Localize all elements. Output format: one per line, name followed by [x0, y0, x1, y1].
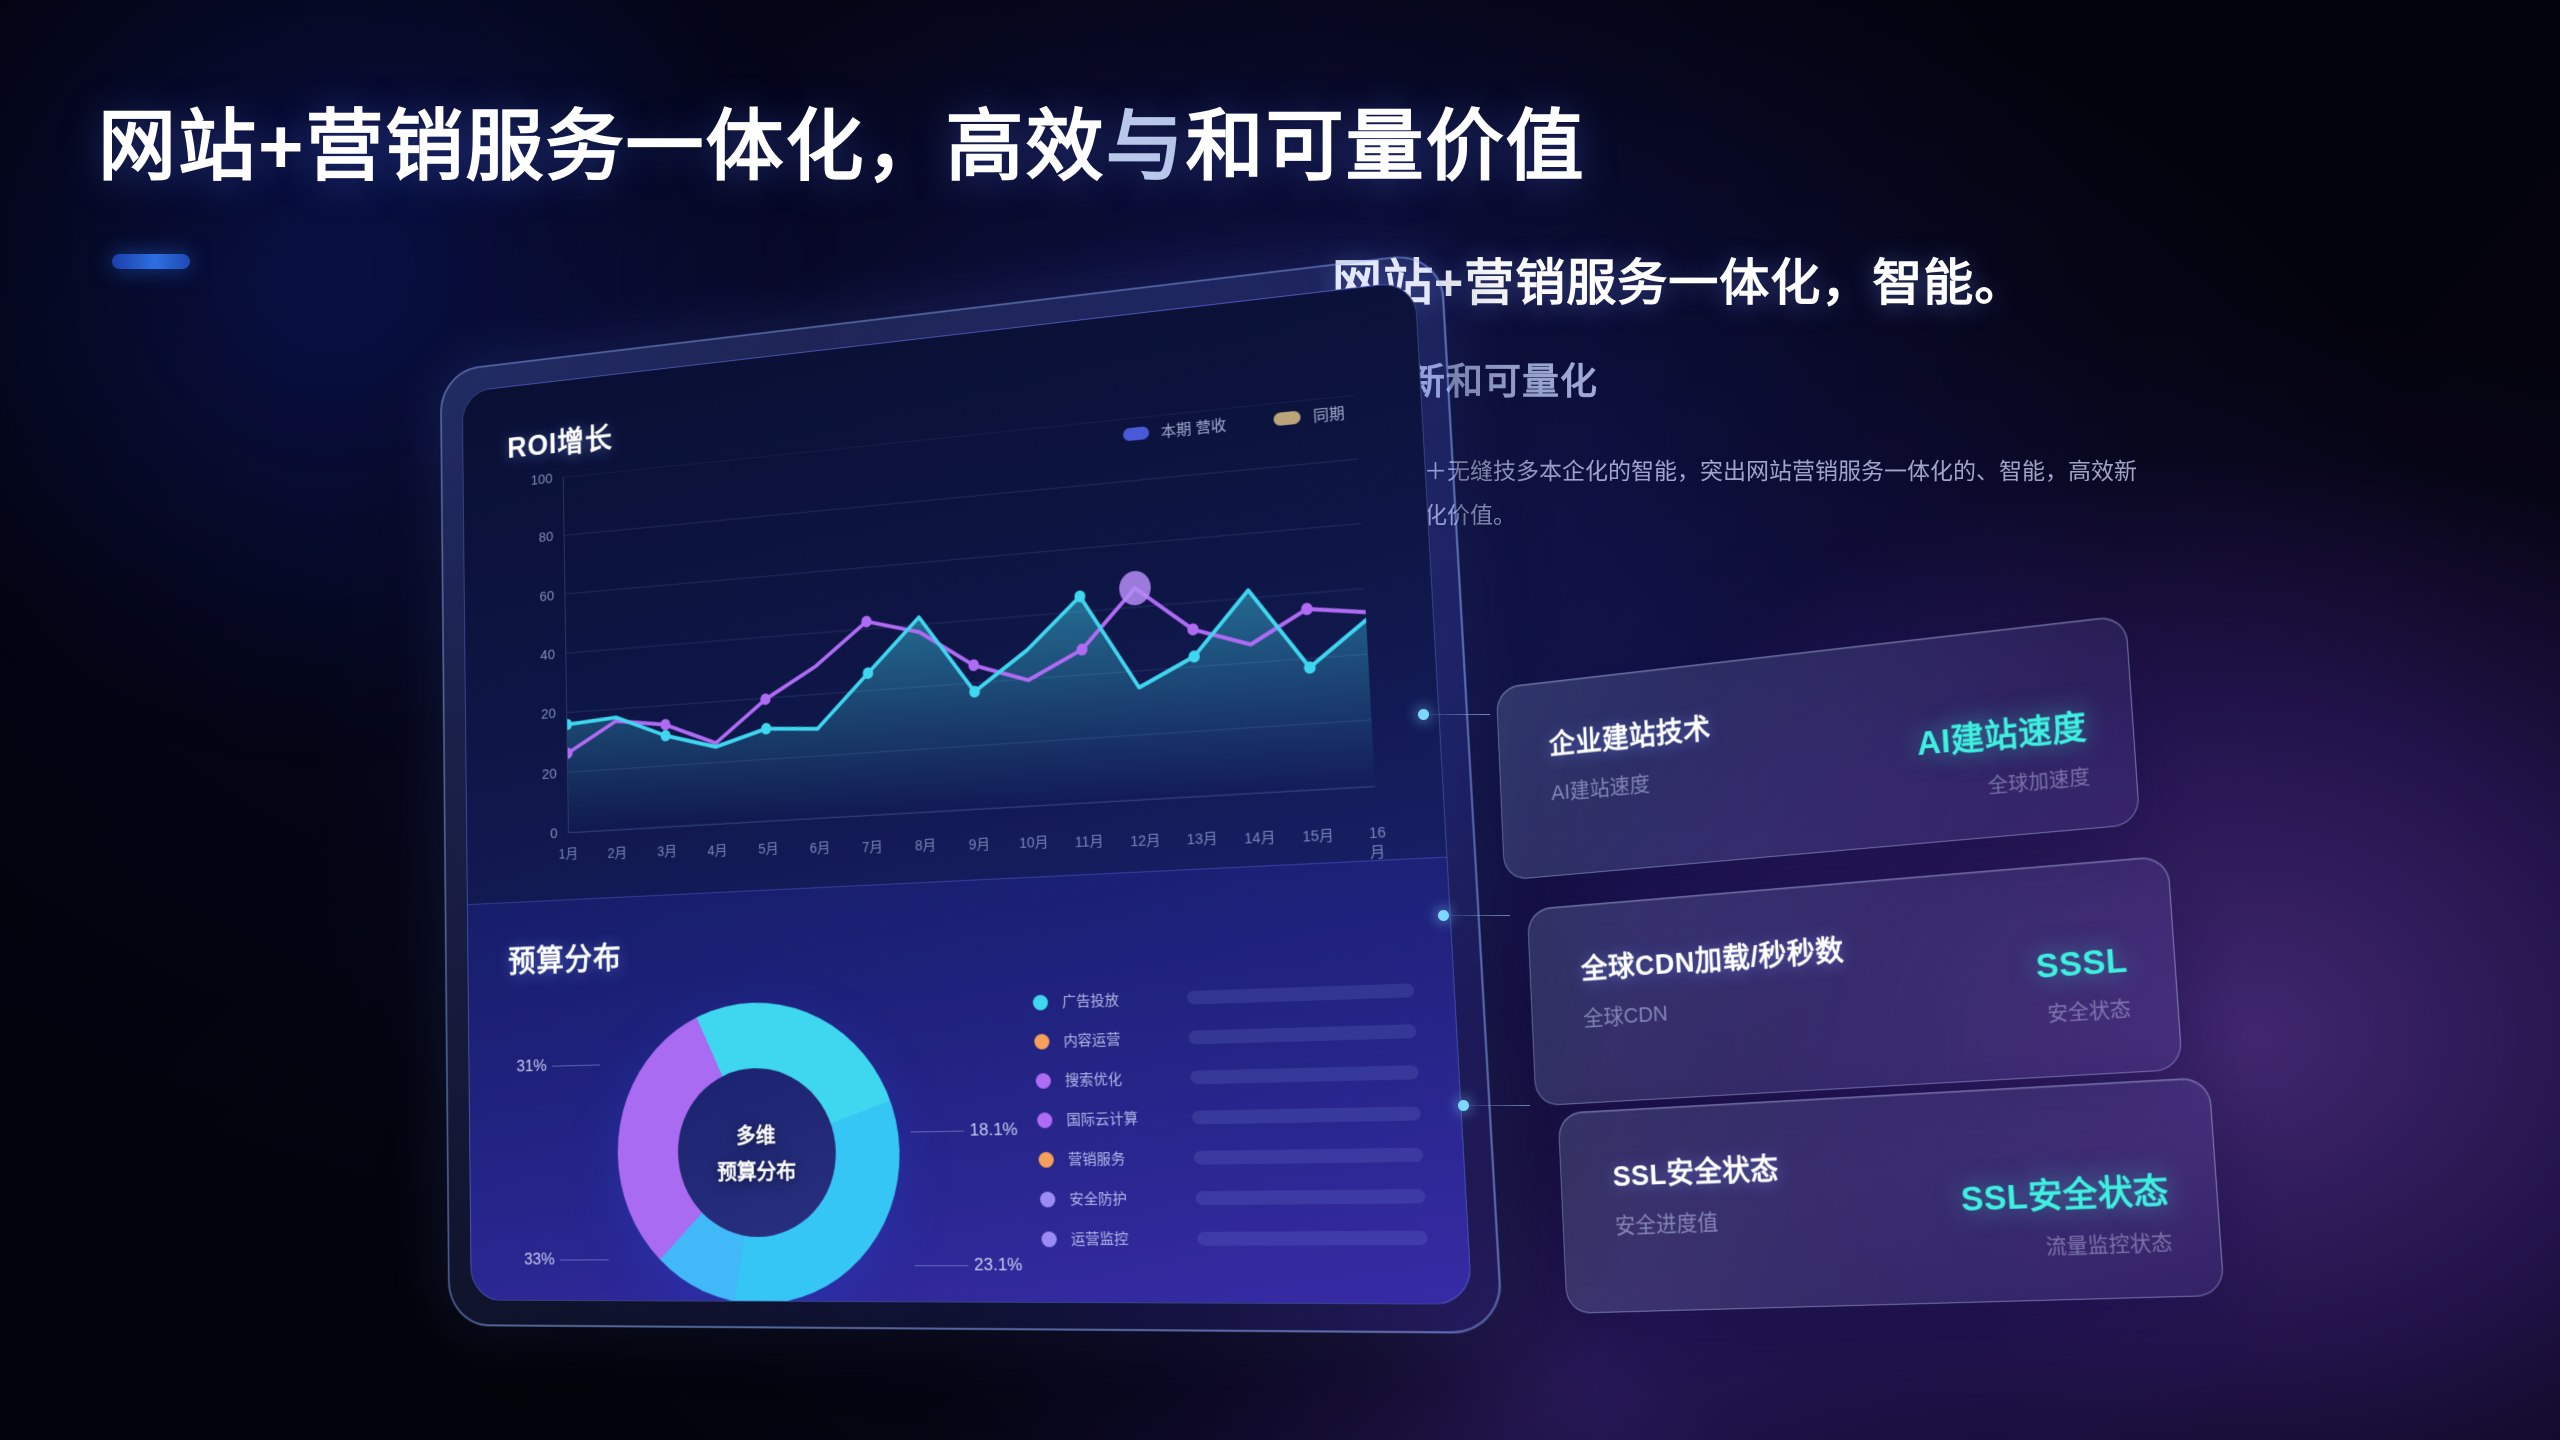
budget-bar-label: 搜索优化: [1065, 1067, 1177, 1090]
budget-bar-label: 内容运营: [1063, 1027, 1174, 1051]
x-axis-tick: 10月: [1019, 832, 1049, 854]
x-axis-tick: 16月: [1369, 824, 1388, 863]
feature-card-metric: SSSL: [2035, 941, 2129, 987]
x-axis-tick: 12月: [1130, 829, 1161, 851]
feature-card-metric-sub: 流量监控状态: [1963, 1226, 2173, 1264]
feature-card-metric-sub: 安全状态: [2038, 992, 2132, 1028]
legend-dot-icon: [1040, 1191, 1056, 1207]
legend-swatch-icon: [1273, 410, 1301, 426]
connector-dot: [1438, 910, 1449, 921]
feature-card-metric: AI建站速度: [1915, 700, 2088, 765]
y-axis-labels: 02020406080100: [508, 478, 563, 836]
line-chart-panel: ROI增长 本期 营收 同期 02020406080100 1月2月3月: [463, 281, 1447, 904]
page-title: 网站+营销服务一体化，高效与和可量价值: [98, 84, 1586, 196]
y-axis-tick: 100: [531, 470, 553, 488]
legend-swatch-icon: [1123, 426, 1150, 441]
line-chart-legend: 本期 营收 同期: [1122, 402, 1345, 446]
legend-dot-icon: [1035, 1073, 1051, 1089]
x-axis-tick: 4月: [707, 840, 727, 861]
feature-card-subtitle: 全球CDN: [1583, 983, 1848, 1032]
budget-bar-label: 营销服务: [1068, 1147, 1180, 1170]
feature-card-subtitle: AI建站速度: [1550, 760, 1713, 807]
page-title-part2: 和可量价值: [1186, 102, 1586, 190]
x-axis-tick: 9月: [968, 833, 990, 854]
feature-card-metric-sub: 全球加速度: [1919, 760, 2091, 805]
copy-block: 网站+营销服务一体化，智能。 高效新和可量化 突出建站＋无缝技多本企化的智能，突…: [1332, 252, 2172, 538]
budget-bar-row: 内容运营28%: [1034, 1008, 1473, 1061]
feature-card-title: 企业建站技术: [1548, 706, 1711, 763]
donut-callout: 18.1%: [969, 1119, 1018, 1140]
budget-bar-label: 国际云计算: [1066, 1107, 1178, 1130]
budget-bar-row: 安全防护10%: [1039, 1174, 1472, 1219]
x-axis-tick: 5月: [758, 838, 779, 859]
x-axis-tick: 6月: [810, 837, 831, 858]
budget-bar-track: [1192, 1106, 1421, 1124]
budget-bar-track: [1195, 1189, 1425, 1205]
legend-label: 本期 营收: [1161, 414, 1227, 442]
donut-callout: 33%: [524, 1250, 555, 1270]
budget-bar-track: [1188, 1024, 1416, 1044]
budget-bar-row: 搜索优化19%: [1035, 1049, 1473, 1100]
budget-bar-row: 营销服务8%: [1038, 1132, 1473, 1179]
budget-bar-row: 广告投放35%: [1032, 967, 1472, 1022]
budget-bar-track: [1187, 983, 1415, 1004]
copy-subheading: 高效新和可量化: [1332, 351, 2172, 405]
budget-bar-row: 运营监控12%: [1041, 1216, 1473, 1259]
x-axis-tick: 14月: [1244, 826, 1276, 848]
budget-bar-track: [1194, 1147, 1424, 1164]
x-axis-tick: 2月: [607, 842, 627, 862]
donut-chart-title: 预算分布: [508, 898, 1401, 980]
feature-card-global-cdn[interactable]: 全球CDN加载/秒秒数 全球CDN SSSL 安全状态: [1527, 855, 2183, 1106]
y-axis-tick: 20: [541, 705, 556, 722]
feature-card-left: SSL安全状态 安全进度值: [1612, 1146, 1786, 1312]
feature-card-list: 企业建站技术 AI建站速度 AI建站速度 全球加速度 全球CDN加载/秒秒数 全…: [1496, 610, 2217, 1317]
x-axis-tick: 7月: [862, 836, 883, 857]
page-title-part1: 网站+营销服务一体化，高效: [98, 102, 1106, 190]
donut-callout: 31%: [516, 1056, 546, 1076]
donut-center-label: 多维 预算分布: [615, 998, 904, 1305]
feature-card-right: AI建站速度 全球加速度: [1913, 665, 2093, 842]
y-axis-tick: 40: [540, 646, 555, 663]
device-screen: ROI增长 本期 营收 同期 02020406080100 1月2月3月: [462, 280, 1473, 1304]
connector-line: [1420, 714, 1490, 715]
legend-item: 同期: [1273, 402, 1345, 430]
line-chart-plot: [563, 395, 1375, 834]
x-axis-tick: 1月: [559, 843, 579, 863]
donut-chart-panel: 预算分布 多维 预算分布 31% 18.1% 33% 23.1% 广告投放35%…: [468, 857, 1472, 1304]
budget-bar-label: 运营监控: [1071, 1228, 1184, 1250]
legend-dot-icon: [1034, 1033, 1050, 1049]
donut-callout: 23.1%: [974, 1255, 1023, 1276]
budget-bar-track: [1190, 1065, 1419, 1084]
x-axis-tick: 13月: [1186, 828, 1218, 850]
device-mockup: ROI增长 本期 营收 同期 02020406080100 1月2月3月: [440, 251, 1504, 1334]
feature-card-right: SSSL 安全状态: [2032, 906, 2135, 1077]
legend-dot-icon: [1041, 1231, 1057, 1247]
feature-card-title: SSL安全状态: [1612, 1146, 1780, 1195]
y-axis-tick: 0: [550, 825, 558, 842]
x-axis-tick: 8月: [915, 835, 937, 856]
feature-card-metric: SSL安全状态: [1959, 1163, 2170, 1222]
line-chart-svg: [564, 395, 1375, 833]
donut-center-line2: 预算分布: [717, 1155, 797, 1186]
budget-bar-row: 国际云计算15%: [1036, 1091, 1472, 1140]
y-axis-tick: 60: [539, 587, 554, 604]
feature-card-left: 全球CDN加载/秒秒数 全球CDN: [1580, 927, 1852, 1102]
x-axis-tick: 3月: [657, 841, 677, 861]
budget-bar-label: 广告投放: [1062, 987, 1173, 1011]
budget-bar-label: 安全防护: [1069, 1187, 1181, 1209]
budget-bar-track: [1197, 1230, 1428, 1245]
feature-card-subtitle: 安全进度值: [1614, 1202, 1782, 1240]
line-chart-area: 本期 营收 同期 02020406080100 1月2月3月4月5月6月7月8月…: [508, 394, 1388, 874]
legend-dot-icon: [1037, 1112, 1053, 1128]
title-accent-bar: [112, 254, 190, 269]
donut-chart-area: 多维 预算分布 31% 18.1% 33% 23.1% 广告投放35%内容运营2…: [509, 970, 1423, 1305]
connector-dot: [1458, 1100, 1469, 1111]
feature-card-right: SSL安全状态 流量监控状态: [1957, 1127, 2176, 1302]
legend-dot-icon: [1033, 994, 1049, 1010]
feature-card-ssl-status[interactable]: SSL安全状态 安全进度值 SSL安全状态 流量监控状态: [1558, 1077, 2225, 1314]
x-axis-tick: 15月: [1302, 825, 1335, 848]
connector-dot: [1418, 709, 1429, 720]
x-axis-tick: 11月: [1074, 830, 1104, 852]
legend-dot-icon: [1038, 1151, 1054, 1167]
copy-heading: 网站+营销服务一体化，智能。: [1332, 252, 2172, 315]
budget-bar-list: 广告投放35%内容运营28%搜索优化19%国际云计算15%营销服务8%安全防护1…: [1032, 967, 1472, 1259]
feature-card-left: 企业建站技术 AI建站速度: [1548, 706, 1717, 875]
y-axis-tick: 20: [542, 765, 557, 782]
connector-line: [1440, 915, 1510, 916]
donut-center-line1: 多维: [736, 1119, 776, 1150]
y-axis-tick: 80: [539, 529, 554, 546]
feature-card-title: 全球CDN加载/秒秒数: [1580, 927, 1845, 988]
page-title-highlight: 与: [1106, 102, 1186, 190]
